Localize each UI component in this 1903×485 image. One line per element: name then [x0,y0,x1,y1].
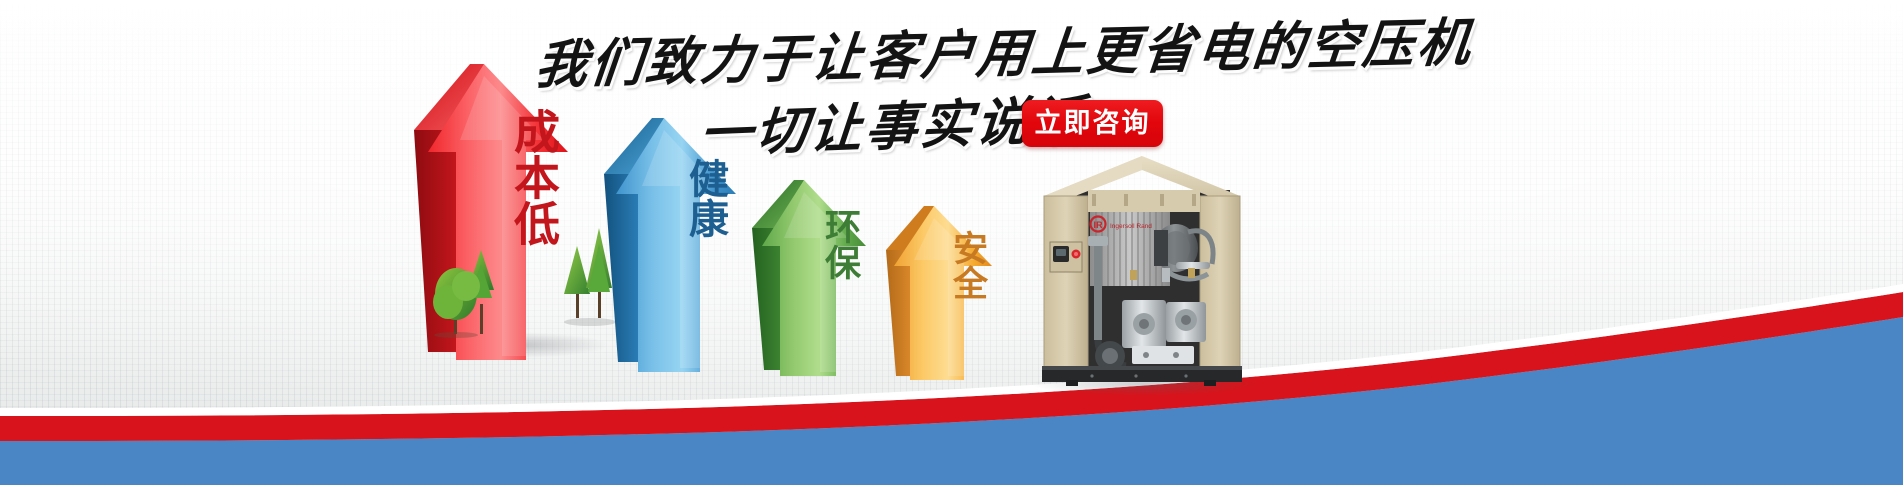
svg-text:IR: IR [1094,220,1104,230]
arrow-label-safety: 安全 [935,230,985,300]
promotional-banner: 成本低 [0,0,1903,485]
arrow-label-eco: 环保 [806,208,858,280]
consult-now-button[interactable]: 立即咨询 [1022,100,1163,147]
svg-text:Ingersoll Rand: Ingersoll Rand [1110,223,1152,230]
arrow-eco: 环保 [740,150,880,376]
arrow-label-cost-low: 成本低 [491,108,557,246]
air-compressor-image: IR Ingersoll Rand [1036,150,1248,388]
arrow-safety: 安全 [876,180,1006,380]
tree-cluster-left [432,228,508,338]
arrow-label-health: 健康 [667,158,725,238]
consult-now-button-label: 立即咨询 [1035,110,1151,137]
